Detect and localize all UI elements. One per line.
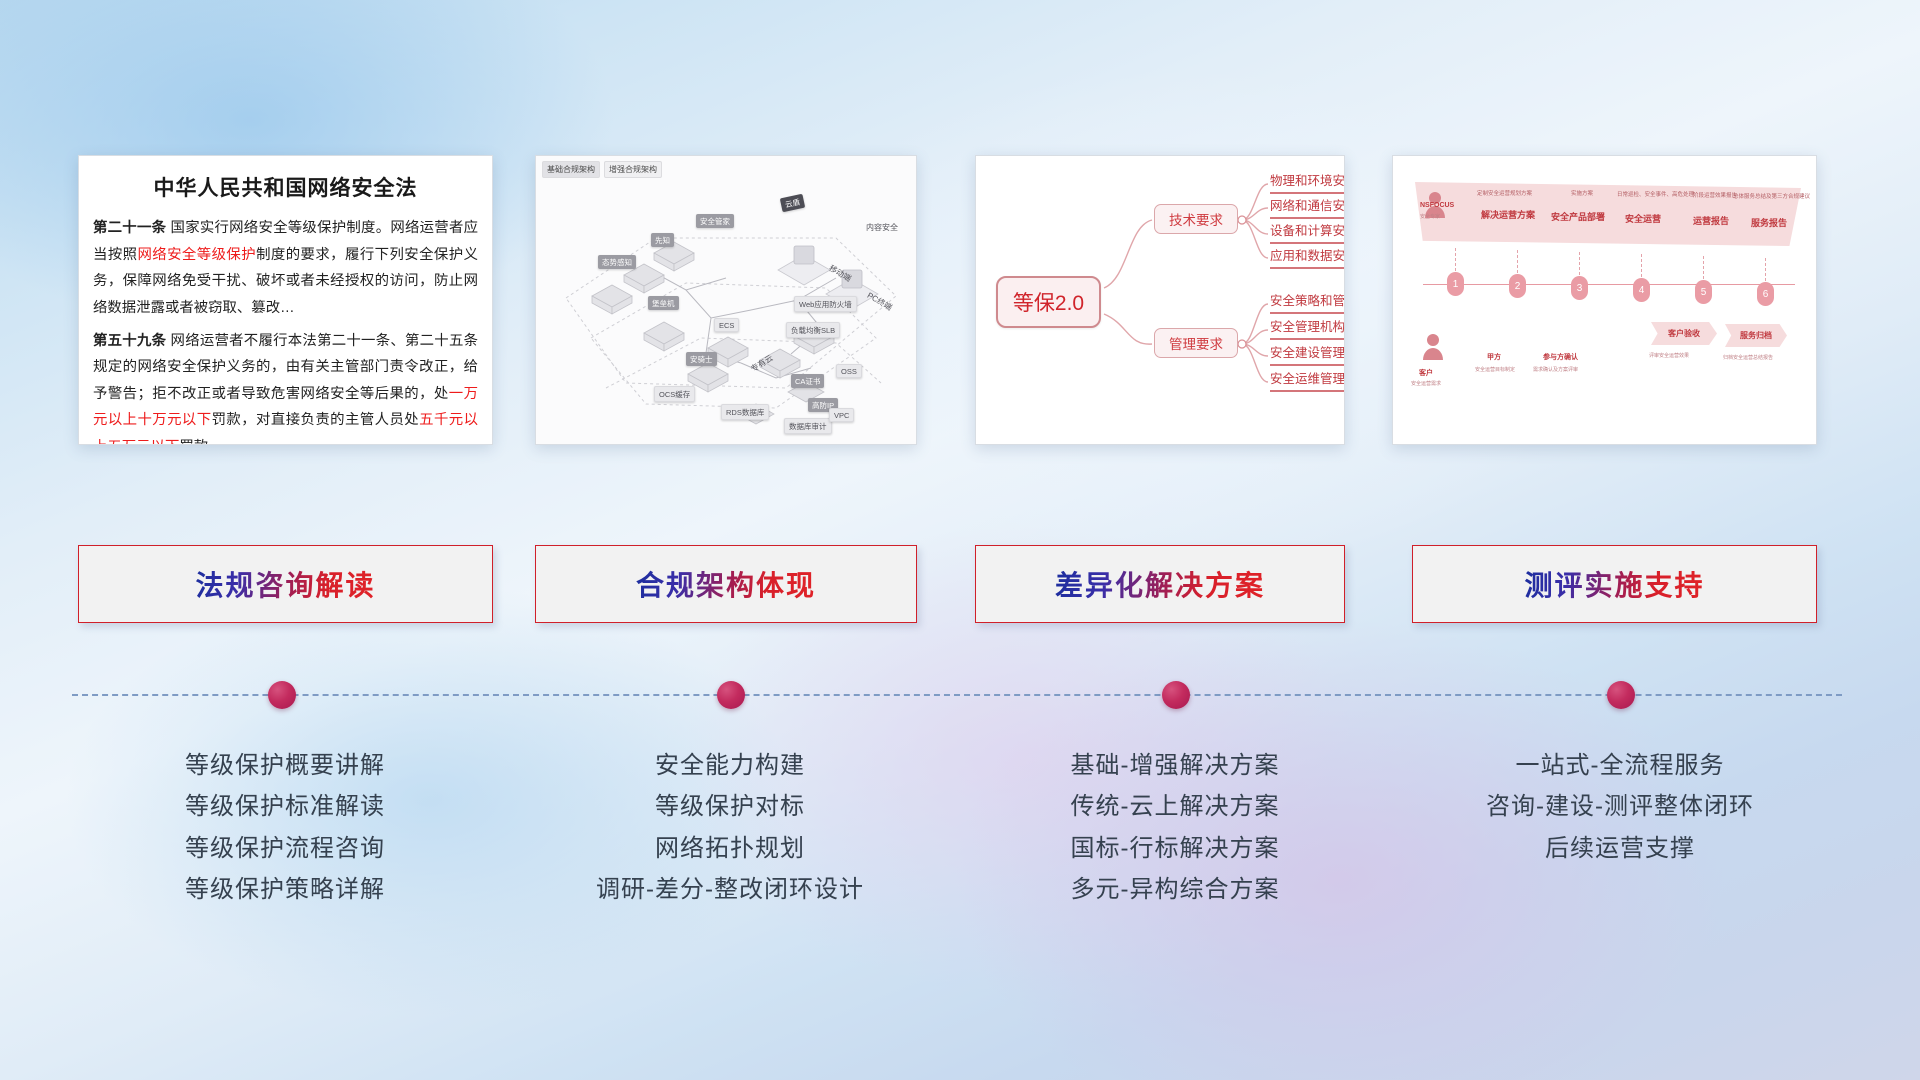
architecture-tab-group[interactable]: 基础合规架构 增强合规架构 bbox=[542, 161, 662, 178]
leaf-security-operations-mgmt: 安全运维管理 bbox=[1270, 368, 1345, 392]
law-title: 中华人民共和国网络安全法 bbox=[79, 172, 492, 202]
step-marker-3: 3 bbox=[1571, 276, 1588, 300]
node-ecs: ECS bbox=[714, 318, 739, 332]
node-vpc: VPC bbox=[829, 408, 854, 422]
role-party-a: 甲方 bbox=[1487, 352, 1501, 362]
law-body: 第二十一条 国家实行网络安全等级保护制度。网络运营者应当按照网络安全等级保护制度… bbox=[79, 215, 492, 445]
pillar-title-4: 测评实施支持 bbox=[1524, 564, 1704, 604]
architecture-diagram: 基础合规架构 增强合规架构 bbox=[536, 156, 916, 444]
timeline-node-3[interactable] bbox=[1162, 681, 1190, 709]
role-service-archive: 服务归档 bbox=[1725, 324, 1787, 347]
node-oss: OSS bbox=[836, 364, 862, 378]
timeline-node-1[interactable] bbox=[268, 681, 296, 709]
role-sub-3: 需求确认及方案评审 bbox=[1533, 366, 1578, 373]
law-article-21-highlight: 网络安全等级保护 bbox=[137, 247, 256, 263]
list-item: 等级保护标准解读 bbox=[60, 786, 510, 827]
step-marker-4: 4 bbox=[1633, 278, 1650, 302]
band-top-5: 总体服务总结及第三方合规建议 bbox=[1733, 192, 1810, 200]
node-anqishi: 安骑士 bbox=[686, 352, 717, 366]
list-item: 咨询-建设-测评整体闭环 bbox=[1395, 786, 1845, 827]
timeline-dashed-line bbox=[72, 694, 1842, 696]
brand-subtitle: 安全专家 bbox=[1420, 213, 1440, 220]
node-rds-database: RDS数据库 bbox=[721, 404, 769, 420]
tab-enhanced-architecture[interactable]: 增强合规架构 bbox=[604, 161, 662, 178]
band-top-4: 阶段运营效果报告 bbox=[1693, 191, 1737, 199]
list-item: 等级保护概要讲解 bbox=[60, 745, 510, 786]
band-top-1: 定制安全运营规划方案 bbox=[1477, 189, 1532, 197]
list-item: 网络拓扑规划 bbox=[505, 828, 955, 869]
timeline-axis bbox=[1423, 284, 1795, 285]
leaf-device-computing-security: 设备和计算安全 bbox=[1270, 220, 1345, 244]
pillar-title-box-4[interactable]: 测评实施支持 bbox=[1412, 545, 1817, 623]
list-item: 国标-行标解决方案 bbox=[950, 828, 1400, 869]
list-item: 后续运营支撑 bbox=[1395, 828, 1845, 869]
leaf-security-org-personnel: 安全管理机构和人员 bbox=[1270, 316, 1345, 340]
law-article-59-text-3: 罚款。 bbox=[179, 439, 222, 445]
leaf-physical-environment-security: 物理和环境安全 bbox=[1270, 170, 1345, 194]
node-situation-awareness: 态势感知 bbox=[598, 255, 636, 269]
list-item: 基础-增强解决方案 bbox=[950, 745, 1400, 786]
pillar-items-3: 基础-增强解决方案 传统-云上解决方案 国标-行标解决方案 多元-异构综合方案 bbox=[950, 745, 1400, 910]
role-customer-acceptance: 客户验收 bbox=[1651, 322, 1717, 345]
band-main-2: 安全产品部署 bbox=[1551, 210, 1605, 223]
node-database-audit: 数据库审计 bbox=[784, 418, 832, 434]
card-mindmap-dengbao[interactable]: 等保2.0 技术要求 管理要求 物理和环境安全 网络和通信安全 设备和计算安全 … bbox=[975, 155, 1345, 445]
law-article-21-label: 第二十一条 bbox=[93, 220, 166, 236]
timeline-node-4[interactable] bbox=[1607, 681, 1635, 709]
step-marker-5: 5 bbox=[1695, 280, 1712, 304]
node-security-butler: 安全管家 bbox=[696, 214, 734, 228]
pillar-title-2: 合规架构体现 bbox=[636, 564, 816, 604]
role-sub-2: 安全运营目标制定 bbox=[1475, 366, 1515, 373]
band-main-4: 运营报告 bbox=[1693, 214, 1729, 227]
band-top-3: 日常巡检、安全事件、高危处理 bbox=[1617, 190, 1694, 198]
list-item: 调研-差分-整改闭环设计 bbox=[505, 869, 955, 910]
leaf-security-construction-mgmt: 安全建设管理 bbox=[1270, 342, 1345, 366]
role-customer: 客户 bbox=[1419, 368, 1433, 378]
band-top-2: 实施方案 bbox=[1571, 189, 1593, 197]
card-cybersecurity-law[interactable]: 中华人民共和国网络安全法 第二十一条 国家实行网络安全等级保护制度。网络运营者应… bbox=[78, 155, 493, 445]
band-main-3: 安全运营 bbox=[1625, 212, 1661, 225]
list-item: 安全能力构建 bbox=[505, 745, 955, 786]
mindmap-branch-technical: 技术要求 bbox=[1154, 204, 1238, 234]
pillar-items-1: 等级保护概要讲解 等级保护标准解读 等级保护流程咨询 等级保护策略详解 bbox=[60, 745, 510, 910]
list-item: 等级保护策略详解 bbox=[60, 869, 510, 910]
list-item: 等级保护流程咨询 bbox=[60, 828, 510, 869]
band-main-1: 解决运营方案 bbox=[1481, 208, 1535, 221]
mindmap-branch-management: 管理要求 bbox=[1154, 328, 1238, 358]
node-ca-certificate: CA证书 bbox=[791, 374, 824, 388]
service-timeline-poster: NSFOCUS 安全专家 定制安全运营规划方案 实施方案 日常巡检、安全事件、高… bbox=[1393, 156, 1816, 444]
step-marker-6: 6 bbox=[1757, 282, 1774, 306]
list-item: 等级保护对标 bbox=[505, 786, 955, 827]
card-service-timeline[interactable]: NSFOCUS 安全专家 定制安全运营规划方案 实施方案 日常巡检、安全事件、高… bbox=[1392, 155, 1817, 445]
band-main-5: 服务报告 bbox=[1751, 216, 1787, 229]
leaf-network-communication-security: 网络和通信安全 bbox=[1270, 195, 1345, 219]
tab-basic-architecture[interactable]: 基础合规架构 bbox=[542, 161, 600, 178]
role-sub-5: 归档安全运营总结报告 bbox=[1723, 354, 1773, 361]
node-content-security: 内容安全 bbox=[866, 222, 898, 233]
customer-person-icon bbox=[1419, 328, 1459, 372]
mindmap: 等保2.0 技术要求 管理要求 物理和环境安全 网络和通信安全 设备和计算安全 … bbox=[976, 156, 1344, 444]
mindmap-root-node: 等保2.0 bbox=[996, 276, 1101, 328]
law-article-59-text-2: 罚款，对直接负责的主管人员处 bbox=[212, 412, 420, 428]
role-participant-confirm: 参与方确认 bbox=[1543, 352, 1578, 362]
role-sub-1: 安全运营需求 bbox=[1411, 380, 1441, 387]
timeline-node-2[interactable] bbox=[717, 681, 745, 709]
role-sub-4: 评审安全运营效果 bbox=[1649, 352, 1689, 359]
pillar-items-2: 安全能力构建 等级保护对标 网络拓扑规划 调研-差分-整改闭环设计 bbox=[505, 745, 955, 910]
pillar-title-1: 法规咨询解读 bbox=[195, 564, 375, 604]
pillar-timeline bbox=[72, 694, 1842, 696]
law-article-21: 第二十一条 国家实行网络安全等级保护制度。网络运营者应当按照网络安全等级保护制度… bbox=[93, 215, 478, 322]
law-article-59-label: 第五十九条 bbox=[93, 333, 166, 349]
node-slb: 负载均衡SLB bbox=[786, 322, 840, 338]
list-item: 传统-云上解决方案 bbox=[950, 786, 1400, 827]
list-item: 多元-异构综合方案 bbox=[950, 869, 1400, 910]
pillar-title-box-1[interactable]: 法规咨询解读 bbox=[78, 545, 493, 623]
node-ocs-cache: OCS缓存 bbox=[654, 386, 695, 402]
thumbnail-card-row: 中华人民共和国网络安全法 第二十一条 国家实行网络安全等级保护制度。网络运营者应… bbox=[0, 0, 1920, 440]
leaf-security-policy-system: 安全策略和管理制度 bbox=[1270, 290, 1345, 314]
brand-name: NSFOCUS bbox=[1420, 202, 1454, 209]
law-article-59: 第五十九条 网络运营者不履行本法第二十一条、第二十五条规定的网络安全保护义务的，… bbox=[93, 328, 478, 445]
pillar-title-box-2[interactable]: 合规架构体现 bbox=[535, 545, 917, 623]
node-xianzhi: 先知 bbox=[651, 233, 674, 247]
node-bastion-host: 堡垒机 bbox=[648, 296, 679, 310]
pillar-title-box-3[interactable]: 差异化解决方案 bbox=[975, 545, 1345, 623]
leaf-application-data-security: 应用和数据安全 bbox=[1270, 245, 1345, 269]
step-marker-2: 2 bbox=[1509, 274, 1526, 298]
card-compliance-architecture[interactable]: 基础合规架构 增强合规架构 bbox=[535, 155, 917, 445]
pillar-items-4: 一站式-全流程服务 咨询-建设-测评整体闭环 后续运营支撑 bbox=[1395, 745, 1845, 869]
node-waf: Web应用防火墙 bbox=[794, 296, 857, 312]
step-marker-1: 1 bbox=[1447, 272, 1464, 296]
pillar-title-3: 差异化解决方案 bbox=[1055, 564, 1265, 604]
list-item: 一站式-全流程服务 bbox=[1395, 745, 1845, 786]
